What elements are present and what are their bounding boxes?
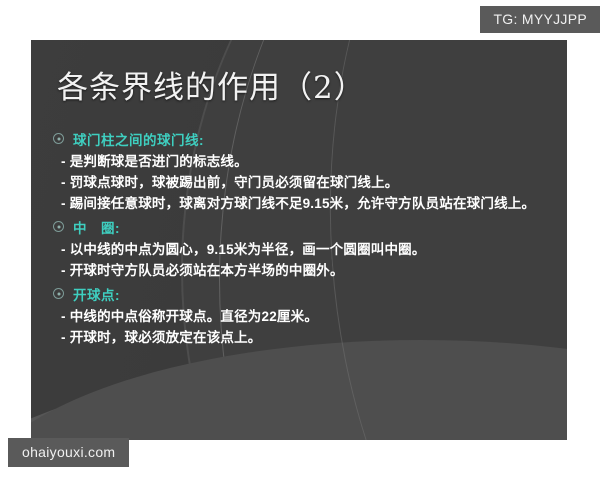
sub-bullet-text: 中线的中点俗称开球点。直径为22厘米。 [70, 306, 553, 327]
dash-marker: - [61, 193, 66, 214]
sub-bullet-text: 是判断球是否进门的标志线。 [70, 151, 553, 172]
watermark-bottom-left: ohaiyouxi.com [8, 438, 129, 467]
dash-marker: - [61, 327, 66, 348]
ring-bullet-icon [53, 288, 64, 299]
dash-marker: - [61, 260, 66, 281]
ring-bullet-icon [53, 133, 64, 144]
sub-bullet-text: 罚球点球时，球被踢出前，守门员必须留在球门线上。 [70, 172, 553, 193]
slide-body: 球门柱之间的球门线:-是判断球是否进门的标志线。-罚球点球时，球被踢出前，守门员… [53, 126, 553, 350]
ring-bullet-icon [53, 221, 64, 232]
sub-bullet-item: -开球时守方队员必须站在本方半场的中圈外。 [61, 260, 553, 281]
dash-marker: - [61, 239, 66, 260]
sub-bullet-item: -踢间接任意球时，球离对方球门线不足9.15米，允许守方队员站在球门线上。 [61, 193, 553, 214]
section-heading-label: 球门柱之间的球门线: [73, 129, 204, 149]
slide-section: 球门柱之间的球门线:-是判断球是否进门的标志线。-罚球点球时，球被踢出前，守门员… [53, 129, 553, 214]
slide-title: 各条界线的作用（2） [57, 62, 366, 107]
sub-bullet-text: 踢间接任意球时，球离对方球门线不足9.15米，允许守方队员站在球门线上。 [70, 193, 553, 214]
section-heading-row: 开球点: [53, 284, 553, 304]
dash-marker: - [61, 306, 66, 327]
slide-section: 开球点:-中线的中点俗称开球点。直径为22厘米。-开球时，球必须放定在该点上。 [53, 284, 553, 348]
sub-bullet-item: -以中线的中点为圆心，9.15米为半径，画一个圆圈叫中圈。 [61, 239, 553, 260]
section-heading-label: 开球点: [73, 284, 120, 304]
sub-bullet-item: -中线的中点俗称开球点。直径为22厘米。 [61, 306, 553, 327]
sub-bullet-item: -罚球点球时，球被踢出前，守门员必须留在球门线上。 [61, 172, 553, 193]
watermark-top-right: TG: MYYJJPP [480, 6, 600, 33]
sub-bullet-item: -开球时，球必须放定在该点上。 [61, 327, 553, 348]
sub-bullet-text: 以中线的中点为圆心，9.15米为半径，画一个圆圈叫中圈。 [70, 239, 553, 260]
sub-bullet-item: -是判断球是否进门的标志线。 [61, 151, 553, 172]
dash-marker: - [61, 172, 66, 193]
section-heading-row: 中 圈: [53, 217, 553, 237]
dash-marker: - [61, 151, 66, 172]
section-heading-label: 中 圈: [73, 217, 120, 237]
sub-bullet-text: 开球时，球必须放定在该点上。 [70, 327, 553, 348]
sub-bullet-text: 开球时守方队员必须站在本方半场的中圈外。 [70, 260, 553, 281]
section-heading-row: 球门柱之间的球门线: [53, 129, 553, 149]
slide-section: 中 圈:-以中线的中点为圆心，9.15米为半径，画一个圆圈叫中圈。-开球时守方队… [53, 217, 553, 281]
presentation-slide: 各条界线的作用（2） 球门柱之间的球门线:-是判断球是否进门的标志线。-罚球点球… [31, 40, 567, 440]
